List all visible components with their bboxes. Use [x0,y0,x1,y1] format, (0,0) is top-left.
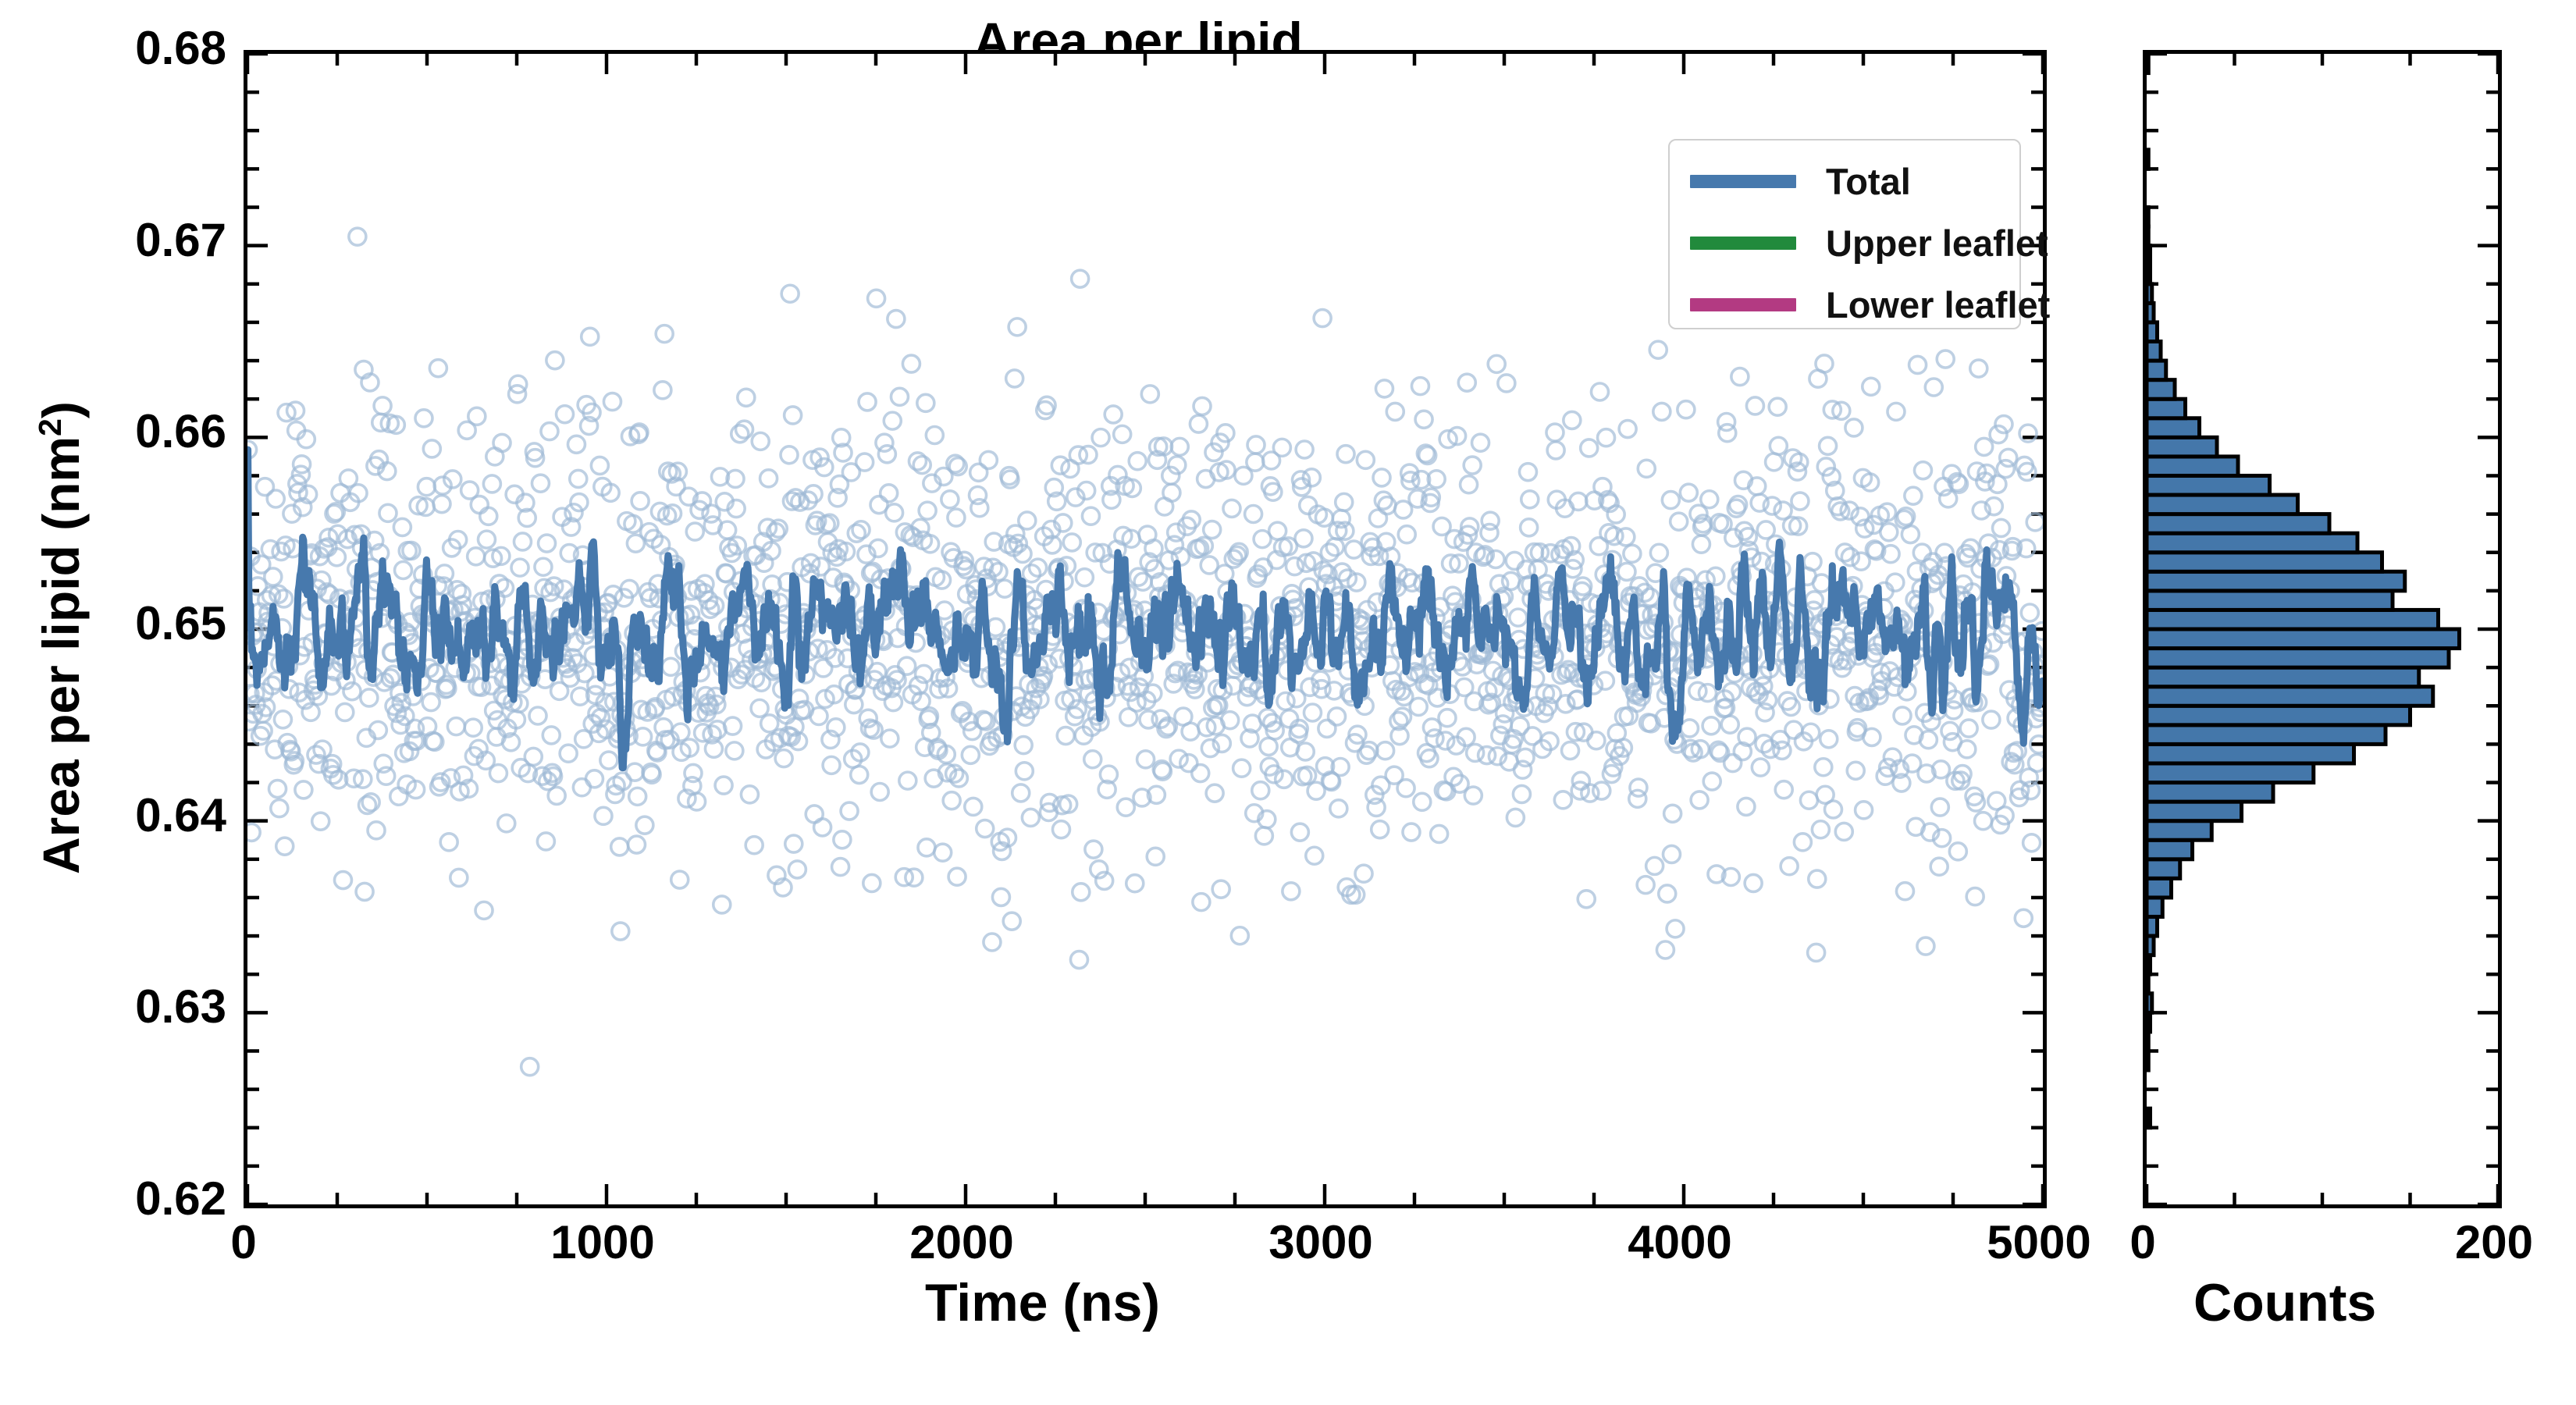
histogram-bar [2147,955,2151,975]
histogram-bar [2147,226,2148,246]
legend-swatch-lower-leaflet [1690,298,1796,311]
histogram-bar [2147,208,2148,227]
histogram-bar [2147,361,2166,380]
histogram-bar [2147,936,2154,955]
histogram-bar [2147,246,2151,265]
histogram-bar [2147,802,2242,821]
histogram-bar [2147,284,2152,304]
histogram-bar [2147,533,2357,553]
histogram-bar [2147,1108,2151,1128]
y-axis-label-exponent: 2 [32,418,68,436]
histogram-bar [2147,514,2329,534]
y-tick-label: 0.64 [94,792,226,839]
histogram-panel [2143,50,2502,1208]
histogram-bar [2147,265,2151,284]
histogram-bar [2147,667,2419,687]
legend-item-upper-leaflet[interactable]: Upper leaflet [1690,219,1999,266]
histogram-bar [2147,821,2211,841]
histogram-bar [2147,418,2200,438]
histogram-bar [2147,1051,2148,1070]
histogram-bar [2147,475,2270,495]
histogram-bar [2147,380,2175,400]
histogram-bar [2147,342,2161,361]
histogram-bar [2147,1012,2151,1032]
legend-label-total: Total [1826,163,1911,200]
legend-item-total[interactable]: Total [1690,158,1999,205]
histogram-x-axis-label: Counts [2194,1272,2376,1333]
histogram-bar [2147,840,2193,859]
x-tick-label: 2000 [876,1219,1048,1266]
histogram-bars [2147,54,2460,1128]
histogram-bar [2147,706,2411,725]
x-tick-label: 4000 [1594,1219,1766,1266]
legend-swatch-upper-leaflet [1690,237,1796,250]
y-tick-label: 0.66 [94,408,226,455]
histogram-bar [2147,649,2449,668]
histogram-bar [2147,591,2393,610]
histogram-bar [2147,859,2180,879]
histogram-bar [2147,322,2158,342]
y-axis-label-tail: ) [32,401,90,418]
y-tick-label: 0.63 [94,983,226,1030]
x-tick-label: 1000 [517,1219,688,1266]
y-tick-label: 0.65 [94,600,226,647]
legend-swatch-total [1690,175,1796,188]
histogram-bar [2147,1032,2148,1051]
x-tick-label: 3000 [1235,1219,1407,1266]
histogram-bar [2147,150,2148,169]
figure-canvas: Area per lipid Total Upper leaflet Lower… [0,0,2576,1405]
histogram-bar [2147,610,2439,629]
histogram-bar [2147,783,2273,802]
histogram-bar [2147,725,2386,745]
histogram-bar [2147,687,2433,706]
histogram-bar [2147,898,2162,917]
histogram-bar [2147,744,2354,763]
histogram-x-tick-label: 200 [2408,1219,2576,1266]
legend-label-lower-leaflet: Lower leaflet [1826,286,2050,323]
y-axis-label-text: Area per lipid (nm [32,436,90,874]
histogram-bar [2147,917,2158,937]
histogram-bar [2147,974,2148,994]
histogram-x-tick-label: 0 [2057,1219,2229,1266]
x-tick-label: 0 [158,1219,329,1266]
x-axis-label: Time (ns) [925,1272,1160,1333]
histogram-bar [2147,994,2152,1013]
legend-item-lower-leaflet[interactable]: Lower leaflet [1690,281,1999,328]
histogram-bar [2147,763,2314,783]
y-tick-label: 0.62 [94,1176,226,1222]
y-tick-label: 0.67 [94,217,226,264]
histogram-bar [2147,878,2172,898]
histogram-bar [2147,553,2382,572]
histogram-bar [2147,495,2298,514]
histogram-bar [2147,571,2405,591]
histogram-bar [2147,629,2460,649]
histogram-svg [2147,54,2498,1204]
histogram-bar [2147,399,2186,418]
legend-label-upper-leaflet: Upper leaflet [1826,225,2048,261]
histogram-bar [2147,457,2238,476]
histogram-bar [2147,303,2154,322]
legend[interactable]: Total Upper leaflet Lower leaflet [1668,139,2021,329]
histogram-bar [2147,437,2217,457]
y-tick-label: 0.68 [94,25,226,72]
histogram-bar [2147,54,2148,73]
y-axis-label: Area per lipid (nm2) [31,401,91,874]
